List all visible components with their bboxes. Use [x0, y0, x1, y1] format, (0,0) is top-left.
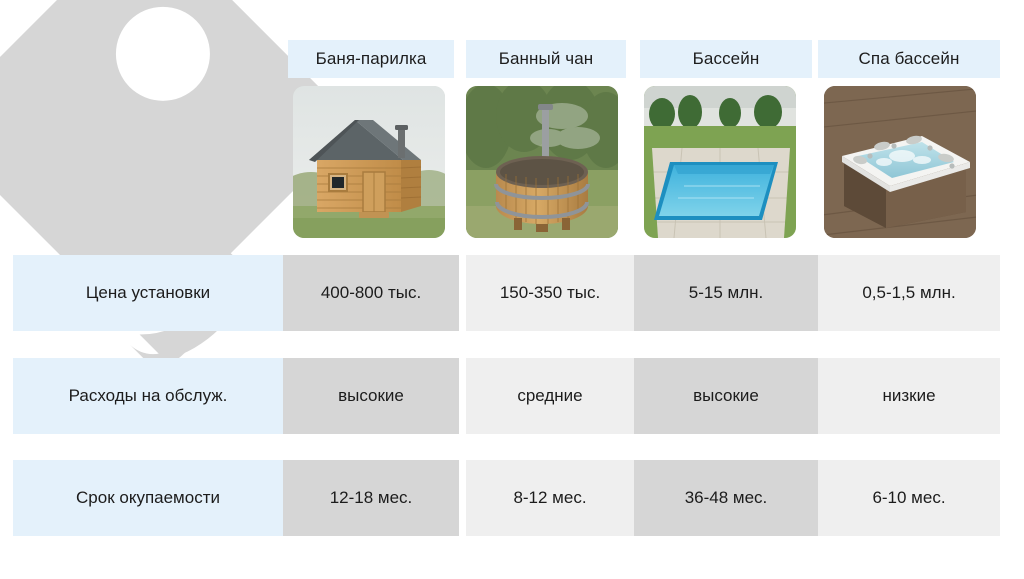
- log-sauna-cabin-photo: [293, 86, 445, 238]
- column-header-2: Бассейн: [640, 40, 812, 78]
- row-value: 36-48 мес.: [634, 460, 818, 536]
- row-value: 12-18 мес.: [283, 460, 459, 536]
- column-header-0: Баня-парилка: [288, 40, 454, 78]
- table-row: Срок окупаемости 12-18 мес. 8-12 мес. 36…: [0, 460, 1024, 536]
- row-value: средние: [466, 358, 634, 434]
- row-value: 400-800 тыс.: [283, 255, 459, 331]
- spa-hot-tub-photo: [824, 86, 976, 238]
- table-header-row: Баня-парилка Банный чан Бассейн Спа басс…: [0, 40, 1024, 78]
- comparison-table-page: Баня-парилка Банный чан Бассейн Спа басс…: [0, 0, 1024, 579]
- row-value: 8-12 мес.: [466, 460, 634, 536]
- table-row: Расходы на обслуж. высокие средние высок…: [0, 358, 1024, 434]
- row-value: 6-10 мес.: [818, 460, 1000, 536]
- column-header-3: Спа бассейн: [818, 40, 1000, 78]
- column-header-1: Банный чан: [466, 40, 626, 78]
- swimming-pool-photo: [644, 86, 796, 238]
- row-value: низкие: [818, 358, 1000, 434]
- row-value: высокие: [634, 358, 818, 434]
- comparison-table: Баня-парилка Банный чан Бассейн Спа басс…: [0, 0, 1024, 579]
- row-label: Расходы на обслуж.: [13, 358, 283, 434]
- row-label: Срок окупаемости: [13, 460, 283, 536]
- row-label: Цена установки: [13, 255, 283, 331]
- table-row: Цена установки 400-800 тыс. 150-350 тыс.…: [0, 255, 1024, 331]
- row-value: 150-350 тыс.: [466, 255, 634, 331]
- table-image-row: [0, 86, 1024, 238]
- row-value: высокие: [283, 358, 459, 434]
- row-value: 5-15 млн.: [634, 255, 818, 331]
- wooden-hot-tub-photo: [466, 86, 618, 238]
- row-value: 0,5-1,5 млн.: [818, 255, 1000, 331]
